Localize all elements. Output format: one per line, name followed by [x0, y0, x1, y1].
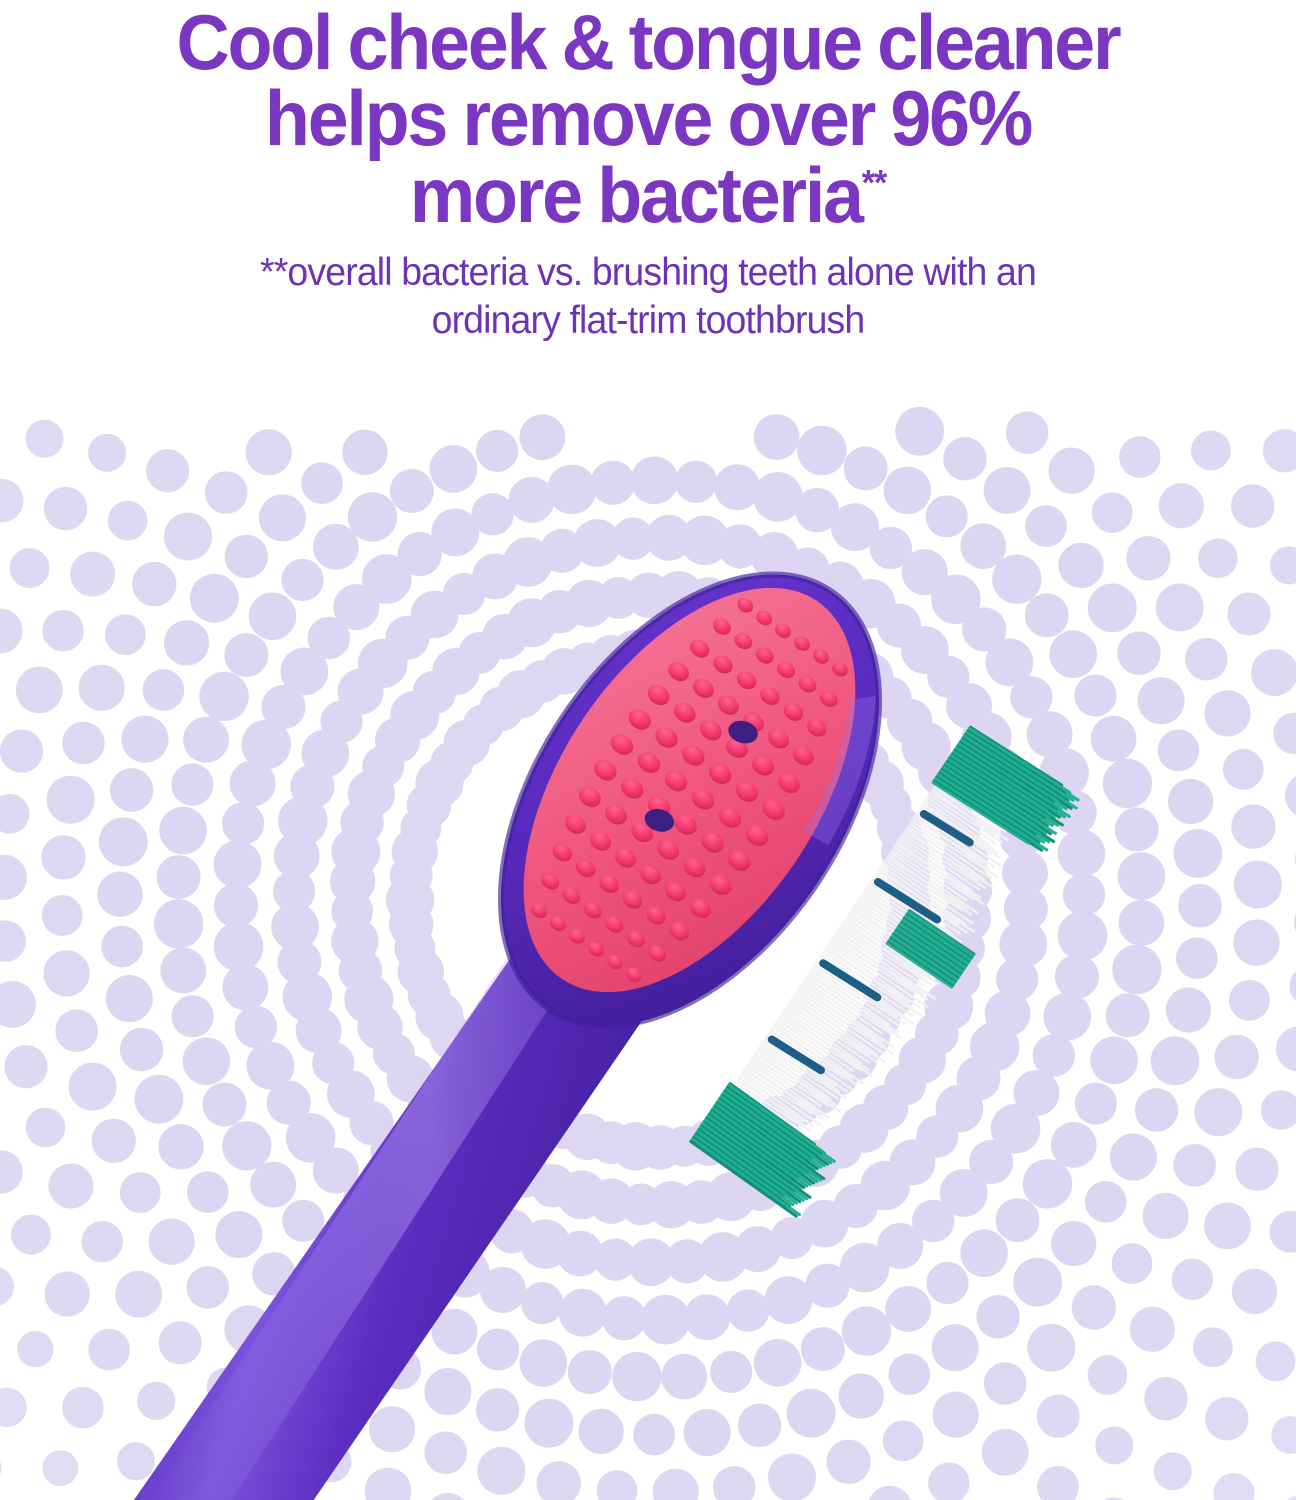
halftone-dot: [520, 1096, 565, 1141]
halftone-dot: [1173, 1144, 1216, 1187]
halftone-dot: [1263, 429, 1296, 473]
halftone-dot: [798, 688, 839, 729]
bristle: [709, 1121, 772, 1164]
bristle: [707, 1114, 798, 1177]
cleaner-nub: [804, 715, 830, 740]
halftone-dot: [0, 1267, 14, 1307]
halftone-dot: [115, 1271, 162, 1318]
halftone-dot: [1130, 1307, 1175, 1352]
bristle: [841, 925, 931, 986]
halftone-dot: [446, 1036, 487, 1077]
halftone-dot: [1271, 1416, 1296, 1454]
cleaner-nub: [623, 964, 644, 985]
halftone-dot: [273, 870, 315, 912]
cleaner-nub: [670, 699, 700, 727]
halftone-dot: [1091, 716, 1137, 762]
halftone-dot: [1166, 987, 1211, 1032]
halftone-dot: [1213, 1473, 1254, 1500]
bristle: [905, 917, 970, 961]
halftone-dot: [867, 1486, 912, 1500]
halftone-dot: [0, 608, 22, 653]
halftone-dot: [245, 1469, 285, 1500]
cleaner-nub: [575, 783, 605, 811]
halftone-dot: [62, 722, 105, 765]
halftone-dot: [754, 414, 800, 460]
halftone-dot: [398, 1152, 444, 1198]
halftone-dot: [199, 672, 248, 721]
halftone-dot: [633, 1414, 675, 1456]
bristle: [892, 937, 957, 981]
bristle: [742, 1072, 819, 1124]
halftone-dot: [839, 1373, 884, 1418]
halftone-dot: [398, 949, 444, 995]
halftone-dot: [842, 1306, 891, 1355]
halftone-dot: [249, 592, 297, 640]
bristle: [711, 1117, 771, 1159]
halftone-dot: [271, 1345, 315, 1389]
halftone-dot: [1176, 937, 1218, 979]
halftone-dot: [480, 1267, 526, 1313]
halftone-dot: [753, 472, 803, 522]
halftone-dot: [362, 554, 412, 604]
halftone-dot: [55, 1009, 98, 1052]
cleaner-nub: [772, 621, 793, 642]
halftone-dot: [962, 712, 1011, 761]
halftone-dot: [1037, 1394, 1080, 1437]
bristle: [946, 761, 1055, 836]
halftone-dot: [412, 671, 456, 715]
bristle: [968, 729, 1065, 796]
halftone-dot: [684, 1294, 730, 1340]
cleaner-nub: [625, 705, 655, 734]
bristle: [753, 1055, 828, 1107]
cleaner-nub: [547, 913, 568, 934]
halftone-dot: [844, 446, 888, 490]
halftone-dot: [776, 671, 822, 717]
halftone-dot: [1106, 993, 1150, 1037]
halftone-dot: [1232, 1269, 1277, 1314]
cleaner-nub: [619, 887, 645, 912]
halftone-dot: [831, 503, 879, 551]
bristle: [939, 771, 1035, 837]
bristle: [720, 1095, 812, 1158]
bristle: [961, 739, 1066, 811]
halftone-dot: [1126, 536, 1170, 580]
bristle: [967, 730, 1073, 803]
halftone-dot: [400, 808, 441, 849]
bristle: [816, 960, 912, 1026]
bristle: [941, 768, 1041, 836]
halftone-dot: [1143, 1193, 1189, 1239]
halftone-dot: [340, 801, 384, 845]
bristle: [876, 872, 966, 933]
halftone-dot: [171, 764, 213, 806]
cleaner-nub: [528, 901, 549, 922]
bristle: [889, 941, 954, 985]
halftone-dot: [43, 950, 89, 996]
halftone-dot: [286, 1113, 336, 1163]
product-feature-panel: Cool cheek & tongue cleaner helps remove…: [0, 0, 1296, 1500]
halftone-dot: [507, 598, 556, 647]
halftone-dot: [205, 471, 248, 514]
bristle: [969, 727, 1078, 802]
halftone-dot: [137, 1382, 175, 1420]
bristle: [896, 930, 961, 974]
bristle: [938, 772, 1043, 844]
bristle: [898, 928, 963, 972]
halftone-dot: [857, 760, 903, 806]
halftone-dot: [48, 1163, 93, 1208]
halftone-dot: [296, 1008, 342, 1054]
halftone-dot: [411, 591, 459, 639]
halftone-dot: [456, 1192, 504, 1240]
halftone-dot: [602, 1296, 646, 1340]
halftone-dot: [482, 614, 527, 659]
halftone-dot: [928, 1462, 969, 1500]
halftone-dot: [17, 1331, 53, 1367]
halftone-dot: [885, 1286, 931, 1332]
bristle: [949, 764, 1012, 808]
halftone-dot: [612, 1352, 661, 1401]
cleaner-nub: [566, 926, 587, 947]
bristle: [859, 898, 940, 953]
halftone-dot: [1037, 1466, 1079, 1500]
halftone-dot: [477, 1328, 519, 1370]
halftone-dot: [1204, 690, 1250, 736]
bristle: [712, 1108, 819, 1182]
halftone-dot: [787, 1389, 836, 1438]
halftone-dot: [431, 509, 479, 557]
halftone-dot: [654, 571, 703, 620]
cleaner-nub: [715, 803, 746, 832]
bristle: [781, 1012, 868, 1072]
cleaner-nub: [636, 861, 664, 888]
halftone-dot: [1092, 492, 1133, 533]
halftone-dot: [390, 469, 434, 513]
halftone-dot: [430, 1015, 475, 1060]
bristle: [881, 866, 966, 924]
bristle: [716, 1102, 816, 1170]
bristle: [949, 764, 1015, 810]
halftone-dot: [62, 1387, 104, 1429]
halftone-dot: [797, 616, 846, 665]
halftone-dot: [1205, 1397, 1249, 1441]
halftone-dot: [235, 1006, 277, 1048]
halftone-dot: [521, 1282, 563, 1324]
bristle: [813, 968, 897, 1025]
halftone-dot: [143, 669, 185, 711]
halftone-dot: [224, 633, 268, 677]
halftone-dot: [1118, 852, 1166, 900]
halftone-dot: [1119, 436, 1160, 477]
halftone-dot: [358, 639, 407, 688]
halftone-dot: [88, 1329, 130, 1371]
bristle: [731, 1088, 797, 1133]
cleaner-nub: [611, 844, 639, 871]
bristle: [956, 755, 1016, 796]
bristle: [702, 1122, 811, 1197]
halftone-dot: [568, 1350, 612, 1394]
halftone-dot: [877, 603, 921, 647]
bristle: [910, 824, 990, 878]
bristle: [966, 738, 1016, 773]
halftone-dot: [290, 764, 334, 808]
bristle: [940, 777, 1003, 821]
halftone-dot: [1276, 1026, 1296, 1071]
bristle: [737, 1078, 807, 1127]
bristle: [692, 1138, 792, 1206]
bristle: [887, 855, 968, 911]
halftone-dot: [573, 519, 621, 567]
halftone-dot: [631, 456, 679, 504]
halftone-dot: [0, 981, 36, 1028]
bristle: [964, 734, 1076, 811]
bristle: [898, 840, 973, 891]
halftone-dot: [11, 1215, 51, 1255]
halftone-dot: [1027, 1324, 1075, 1372]
halftone-dot: [424, 1431, 467, 1474]
bristle: [778, 1020, 853, 1071]
bristle: [908, 913, 973, 957]
cleaner-nub: [759, 795, 789, 824]
halftone-dot: [1261, 1090, 1296, 1130]
halftone-dot: [565, 580, 612, 627]
halftone-dot: [187, 1171, 229, 1213]
halftone-dot: [956, 1056, 1000, 1100]
bristle: [938, 781, 1011, 831]
bristle: [719, 1104, 787, 1151]
bristle: [878, 868, 960, 925]
halftone-dot: [680, 1180, 724, 1224]
cleaner-hole: [726, 717, 761, 746]
halftone-dot: [1025, 593, 1069, 637]
halftone-dot: [765, 1276, 813, 1324]
halftone-dot: [47, 776, 95, 824]
bristle: [936, 776, 1047, 852]
halftone-dot: [451, 1120, 496, 1165]
halftone-dot: [313, 1230, 361, 1278]
halftone-dot: [767, 1156, 809, 1198]
cleaner-nub: [753, 608, 774, 629]
halftone-dot: [960, 523, 1006, 569]
bristle: [784, 1010, 862, 1063]
bristle: [824, 951, 921, 1017]
halftone-dot: [787, 548, 829, 590]
bristle: [735, 1081, 810, 1132]
halftone-dot: [214, 883, 258, 927]
halftone-dot: [379, 1348, 421, 1390]
halftone-dot: [158, 1124, 203, 1169]
halftone-dot: [520, 1339, 568, 1387]
cleaner-nub: [724, 846, 754, 875]
halftone-dot: [332, 1319, 377, 1364]
halftone-dot: [1023, 1159, 1072, 1208]
halftone-dot: [1158, 730, 1200, 772]
halftone-dot: [476, 430, 518, 472]
halftone-dot: [778, 1085, 819, 1126]
halftone-dot: [687, 577, 731, 621]
halftone-dot: [751, 532, 799, 580]
bristle: [718, 1108, 776, 1148]
cleaner-nub: [538, 870, 562, 893]
halftone-dot: [960, 1229, 1008, 1277]
halftone-dot: [597, 1470, 638, 1500]
bristle: [962, 738, 1058, 804]
bristle: [831, 942, 928, 1007]
bristle: [749, 1062, 831, 1118]
bristle: [689, 1142, 798, 1217]
cleaner-nub: [757, 683, 783, 708]
halftone-dot: [501, 1150, 548, 1197]
halftone-dot: [101, 926, 143, 968]
halftone-dot: [915, 1012, 959, 1056]
halftone-dot: [160, 948, 206, 994]
halftone-dot: [962, 607, 1006, 651]
halftone-dot: [795, 488, 839, 532]
halftone-dot: [497, 670, 545, 718]
cleaner-nub: [666, 919, 692, 944]
halftone-dot: [646, 515, 692, 561]
halftone-dot: [1058, 911, 1108, 961]
halftone-dot: [564, 1114, 610, 1160]
halftone-dot: [344, 975, 393, 1024]
halftone-dot: [478, 1139, 520, 1181]
halftone-dot-group: [0, 407, 1296, 1500]
halftone-dot: [159, 807, 207, 855]
bristle: [710, 1111, 815, 1183]
halftone-dot: [521, 1219, 570, 1268]
halftone-dot: [351, 1262, 395, 1306]
halftone-dot: [984, 467, 1031, 514]
halftone-dot: [1231, 484, 1275, 528]
bristle: [928, 798, 996, 844]
bristle: [744, 1068, 812, 1114]
halftone-dot: [0, 479, 24, 523]
bristle: [868, 885, 954, 944]
halftone-dot: [110, 768, 153, 811]
halftone-dot: [278, 796, 327, 845]
halftone-dot: [825, 635, 869, 679]
cleaner-nub: [686, 636, 712, 661]
bristle: [970, 725, 1061, 788]
halftone-dot: [408, 973, 451, 1016]
bristle: [854, 905, 944, 967]
bristle: [895, 932, 960, 976]
bristle: [947, 768, 1007, 809]
halftone-dot: [1053, 791, 1097, 835]
halftone-dot: [840, 1243, 890, 1293]
halftone-dot: [331, 890, 373, 932]
halftone-dot: [172, 995, 214, 1037]
halftone-dot: [918, 751, 962, 795]
bristle: [757, 1049, 830, 1099]
bristle: [823, 962, 877, 999]
halftone-dot: [579, 1409, 624, 1454]
bristle: [888, 942, 953, 986]
halftone-dot: [97, 872, 142, 917]
bristle: [740, 1075, 814, 1125]
halftone-dot: [735, 1226, 781, 1272]
bristle: [728, 1084, 816, 1145]
halftone-dot: [1072, 1285, 1116, 1329]
halftone-dot: [536, 1461, 580, 1500]
bristle: [957, 744, 1056, 812]
halftone-dot: [388, 1285, 437, 1334]
halftone-dot: [370, 1125, 419, 1174]
halftone-dot: [1039, 748, 1089, 798]
halftone-dot: [503, 537, 552, 586]
halftone-dot: [385, 616, 429, 660]
bristle: [724, 1090, 819, 1156]
bristle: [950, 754, 1057, 828]
bristle: [704, 1120, 792, 1181]
bristle: [715, 1103, 825, 1179]
halftone-dot: [222, 1121, 271, 1170]
halftone-dot: [16, 666, 63, 713]
halftone-dot: [661, 630, 707, 676]
bristle: [691, 1139, 801, 1215]
halftone-dot: [4, 1045, 47, 1088]
bristle: [760, 1046, 837, 1098]
halftone-dot: [407, 1080, 451, 1124]
bristle: [725, 1098, 786, 1139]
halftone-dot: [342, 430, 387, 475]
halftone-dot: [415, 993, 463, 1041]
bristle: [861, 894, 948, 954]
headline-footnote-marker: **: [862, 163, 887, 203]
bristle: [953, 750, 1054, 820]
halftone-dot: [477, 1447, 525, 1495]
bristle: [958, 751, 1021, 795]
halftone-dot: [1033, 1034, 1075, 1076]
bristle: [959, 741, 1061, 811]
bristle: [816, 960, 899, 1017]
halftone-dot: [214, 840, 262, 888]
cleaner-nub: [617, 774, 647, 803]
bristle: [925, 800, 991, 845]
tongue-cleaner-pad: [456, 529, 923, 1050]
cleaner-nub: [596, 871, 622, 896]
halftone-dot: [942, 836, 987, 881]
bristle: [852, 908, 939, 968]
bristle: [843, 921, 938, 987]
halftone-dot: [887, 699, 932, 744]
halftone-dot: [1135, 1088, 1178, 1131]
toothbrush-head: [423, 506, 957, 1094]
bristle: [943, 766, 1046, 837]
bristle: [942, 767, 1054, 844]
bristle: [707, 1116, 809, 1186]
cleaner-nub: [764, 725, 792, 752]
halftone-dot: [817, 562, 863, 608]
halftone-dot: [1231, 804, 1275, 848]
bristle: [869, 881, 965, 947]
bristle: [755, 1051, 841, 1110]
bristle: [714, 1104, 812, 1171]
halftone-dot: [271, 903, 319, 951]
halftone-dot: [277, 940, 321, 984]
halftone-dot: [884, 467, 932, 515]
halftone-dot: [443, 573, 485, 615]
cleaner-nub: [753, 644, 777, 667]
bristle: [954, 758, 1010, 796]
halftone-dot: [134, 1075, 183, 1124]
bristle: [892, 936, 957, 980]
bristle: [822, 955, 913, 1016]
halftone-dot: [42, 1450, 78, 1486]
halftone-dot: [675, 461, 717, 503]
halftone-dot: [928, 777, 975, 824]
